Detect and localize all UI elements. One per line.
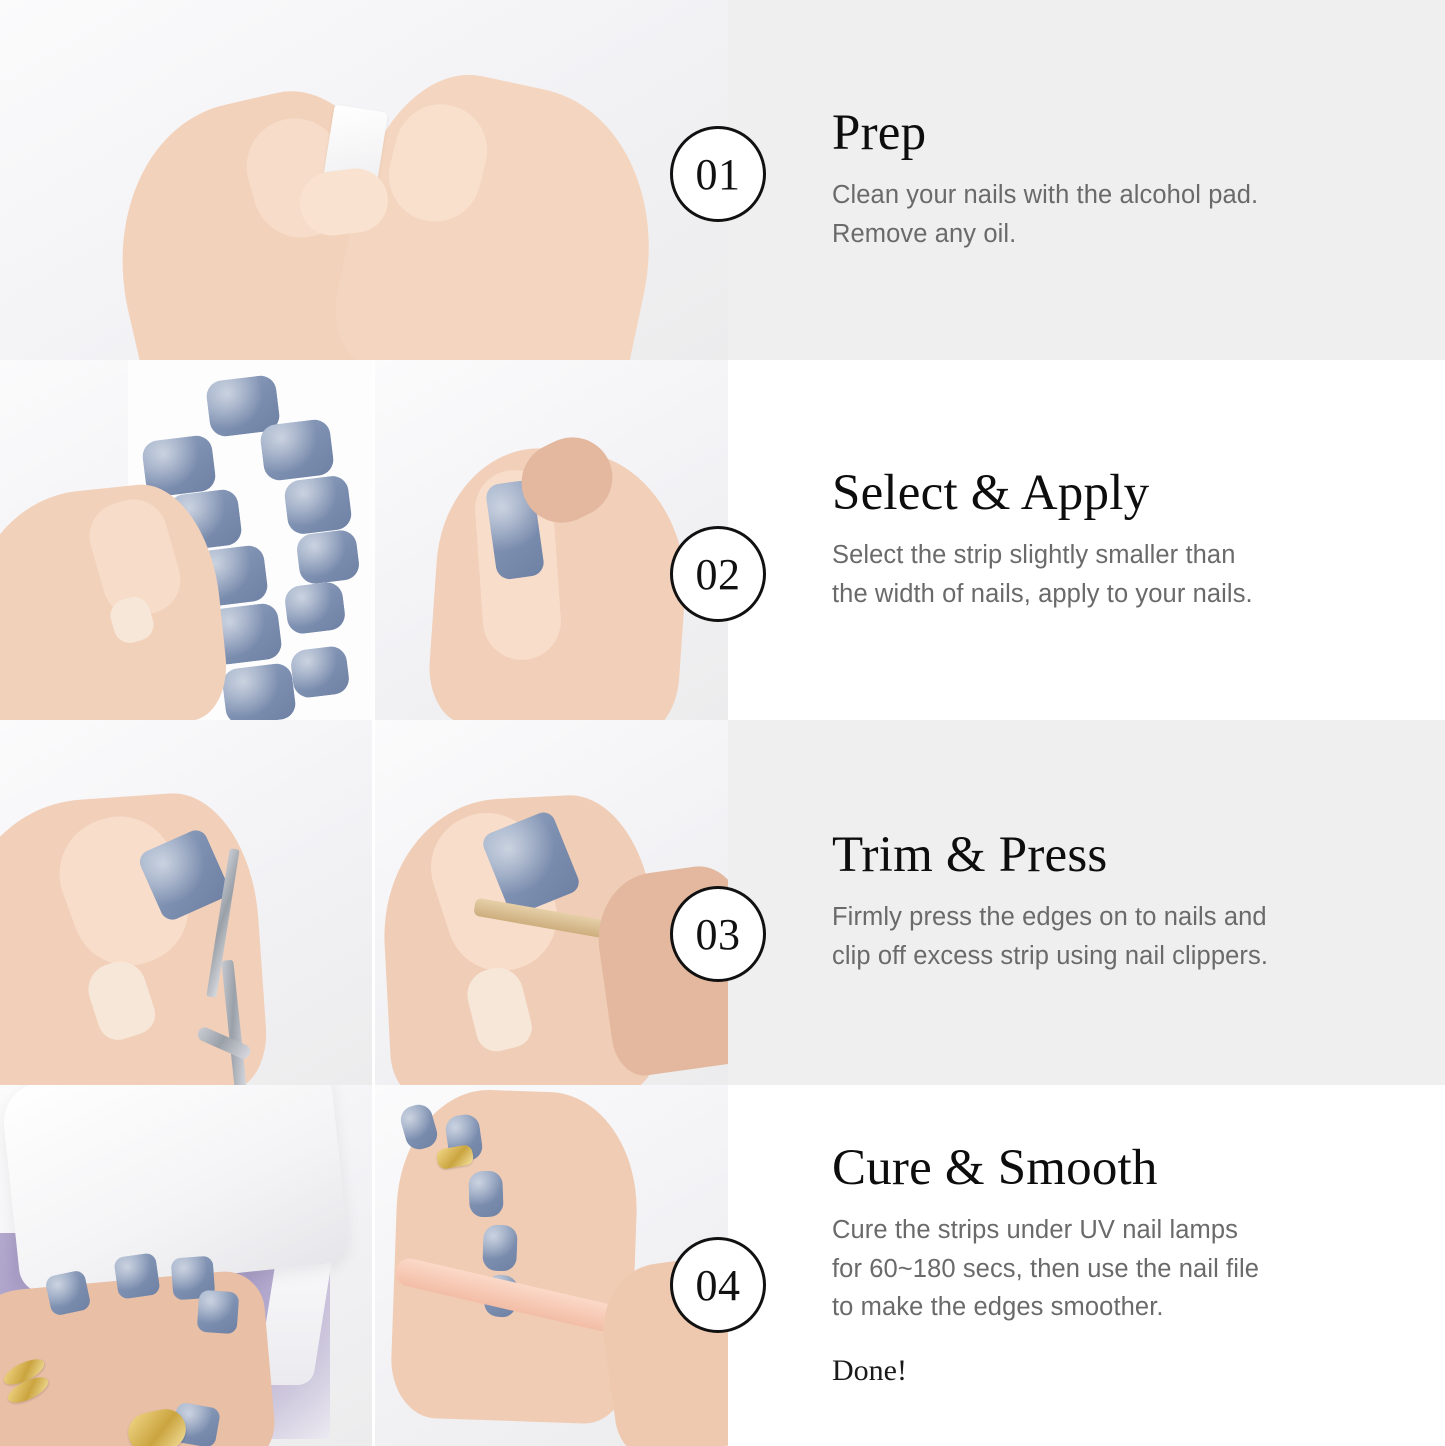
- step-04-heading: Cure & Smooth: [832, 1142, 1411, 1195]
- nail-with-strip: [468, 1170, 504, 1217]
- step-03-heading: Trim & Press: [832, 829, 1411, 882]
- photo-apply-strip-to-nail: Fingertip with a blue nail strip being a…: [372, 360, 728, 720]
- step-03-body: Firmly press the edges on to nails and c…: [832, 898, 1411, 976]
- photo-press-with-stick: Wooden cuticle stick pressing the strip …: [372, 720, 728, 1085]
- nail-strip: [259, 418, 335, 482]
- step-01-body-line-2: Remove any oil.: [832, 220, 1016, 248]
- step-03-body-line-2: clip off excess strip using nail clipper…: [832, 942, 1268, 970]
- step-number-badge-02: 02: [670, 526, 766, 622]
- step-01-body: Clean your nails with the alcohol pad. R…: [832, 176, 1411, 254]
- step-02-body-line-1: Select the strip slightly smaller than: [832, 541, 1235, 569]
- step-02-copy: 02 Select & Apply Select the strip sligh…: [728, 360, 1445, 720]
- step-02-body-line-2: the width of nails, apply to your nails.: [832, 580, 1253, 608]
- step-02-media: Hand holding a sheet of blue glitter nai…: [0, 360, 728, 720]
- step-03-copy: 03 Trim & Press Firmly press the edges o…: [728, 720, 1445, 1085]
- photo-prep-alcohol-pad: Two hands holding a white alcohol pad ag…: [0, 0, 728, 360]
- step-01-media: Two hands holding a white alcohol pad ag…: [0, 0, 728, 360]
- step-01-copy: 01 Prep Clean your nails with the alcoho…: [728, 0, 1445, 360]
- step-01-body-line-1: Clean your nails with the alcohol pad.: [832, 181, 1258, 209]
- nail-strip: [289, 645, 350, 699]
- step-01-heading: Prep: [832, 107, 1411, 160]
- step-02-body: Select the strip slightly smaller than t…: [832, 536, 1411, 614]
- step-row-03: Scissors trimming excess nail strip from…: [0, 720, 1445, 1085]
- nail-strip: [221, 662, 297, 720]
- done-footnote: Done!: [832, 1353, 1411, 1389]
- step-04-body-line-1: Cure the strips under UV nail lamps: [832, 1216, 1238, 1244]
- step-number-badge-01: 01: [670, 126, 766, 222]
- photo-nail-strip-sheet: Hand holding a sheet of blue glitter nai…: [0, 360, 372, 720]
- step-02-heading: Select & Apply: [832, 467, 1411, 520]
- step-04-body-line-3: to make the edges smoother.: [832, 1293, 1164, 1321]
- photo-trim-with-clippers: Scissors trimming excess nail strip from…: [0, 720, 372, 1085]
- step-number-badge-04: 04: [670, 1237, 766, 1333]
- nail-strip: [283, 581, 346, 636]
- step-04-body: Cure the strips under UV nail lamps for …: [832, 1211, 1411, 1327]
- instruction-infographic: Two hands holding a white alcohol pad ag…: [0, 0, 1445, 1446]
- photo-uv-lamp-curing: Hand with blue nails under a white UV la…: [0, 1085, 372, 1446]
- step-row-04: Hand with blue nails under a white UV la…: [0, 1085, 1445, 1446]
- nail-strip: [295, 529, 361, 586]
- nail-with-strip: [113, 1252, 160, 1299]
- step-03-body-line-1: Firmly press the edges on to nails and: [832, 903, 1267, 931]
- step-03-media: Scissors trimming excess nail strip from…: [0, 720, 728, 1085]
- nail-strip: [283, 474, 353, 535]
- step-04-copy: 04 Cure & Smooth Cure the strips under U…: [728, 1085, 1445, 1446]
- step-04-body-line-2: for 60~180 secs, then use the nail file: [832, 1255, 1259, 1283]
- step-04-media: Hand with blue nails under a white UV la…: [0, 1085, 728, 1446]
- nail-with-strip: [482, 1224, 518, 1271]
- step-number-badge-03: 03: [670, 886, 766, 982]
- step-row-02: Hand holding a sheet of blue glitter nai…: [0, 360, 1445, 720]
- nail-with-strip: [197, 1290, 240, 1335]
- step-row-01: Two hands holding a white alcohol pad ag…: [0, 0, 1445, 360]
